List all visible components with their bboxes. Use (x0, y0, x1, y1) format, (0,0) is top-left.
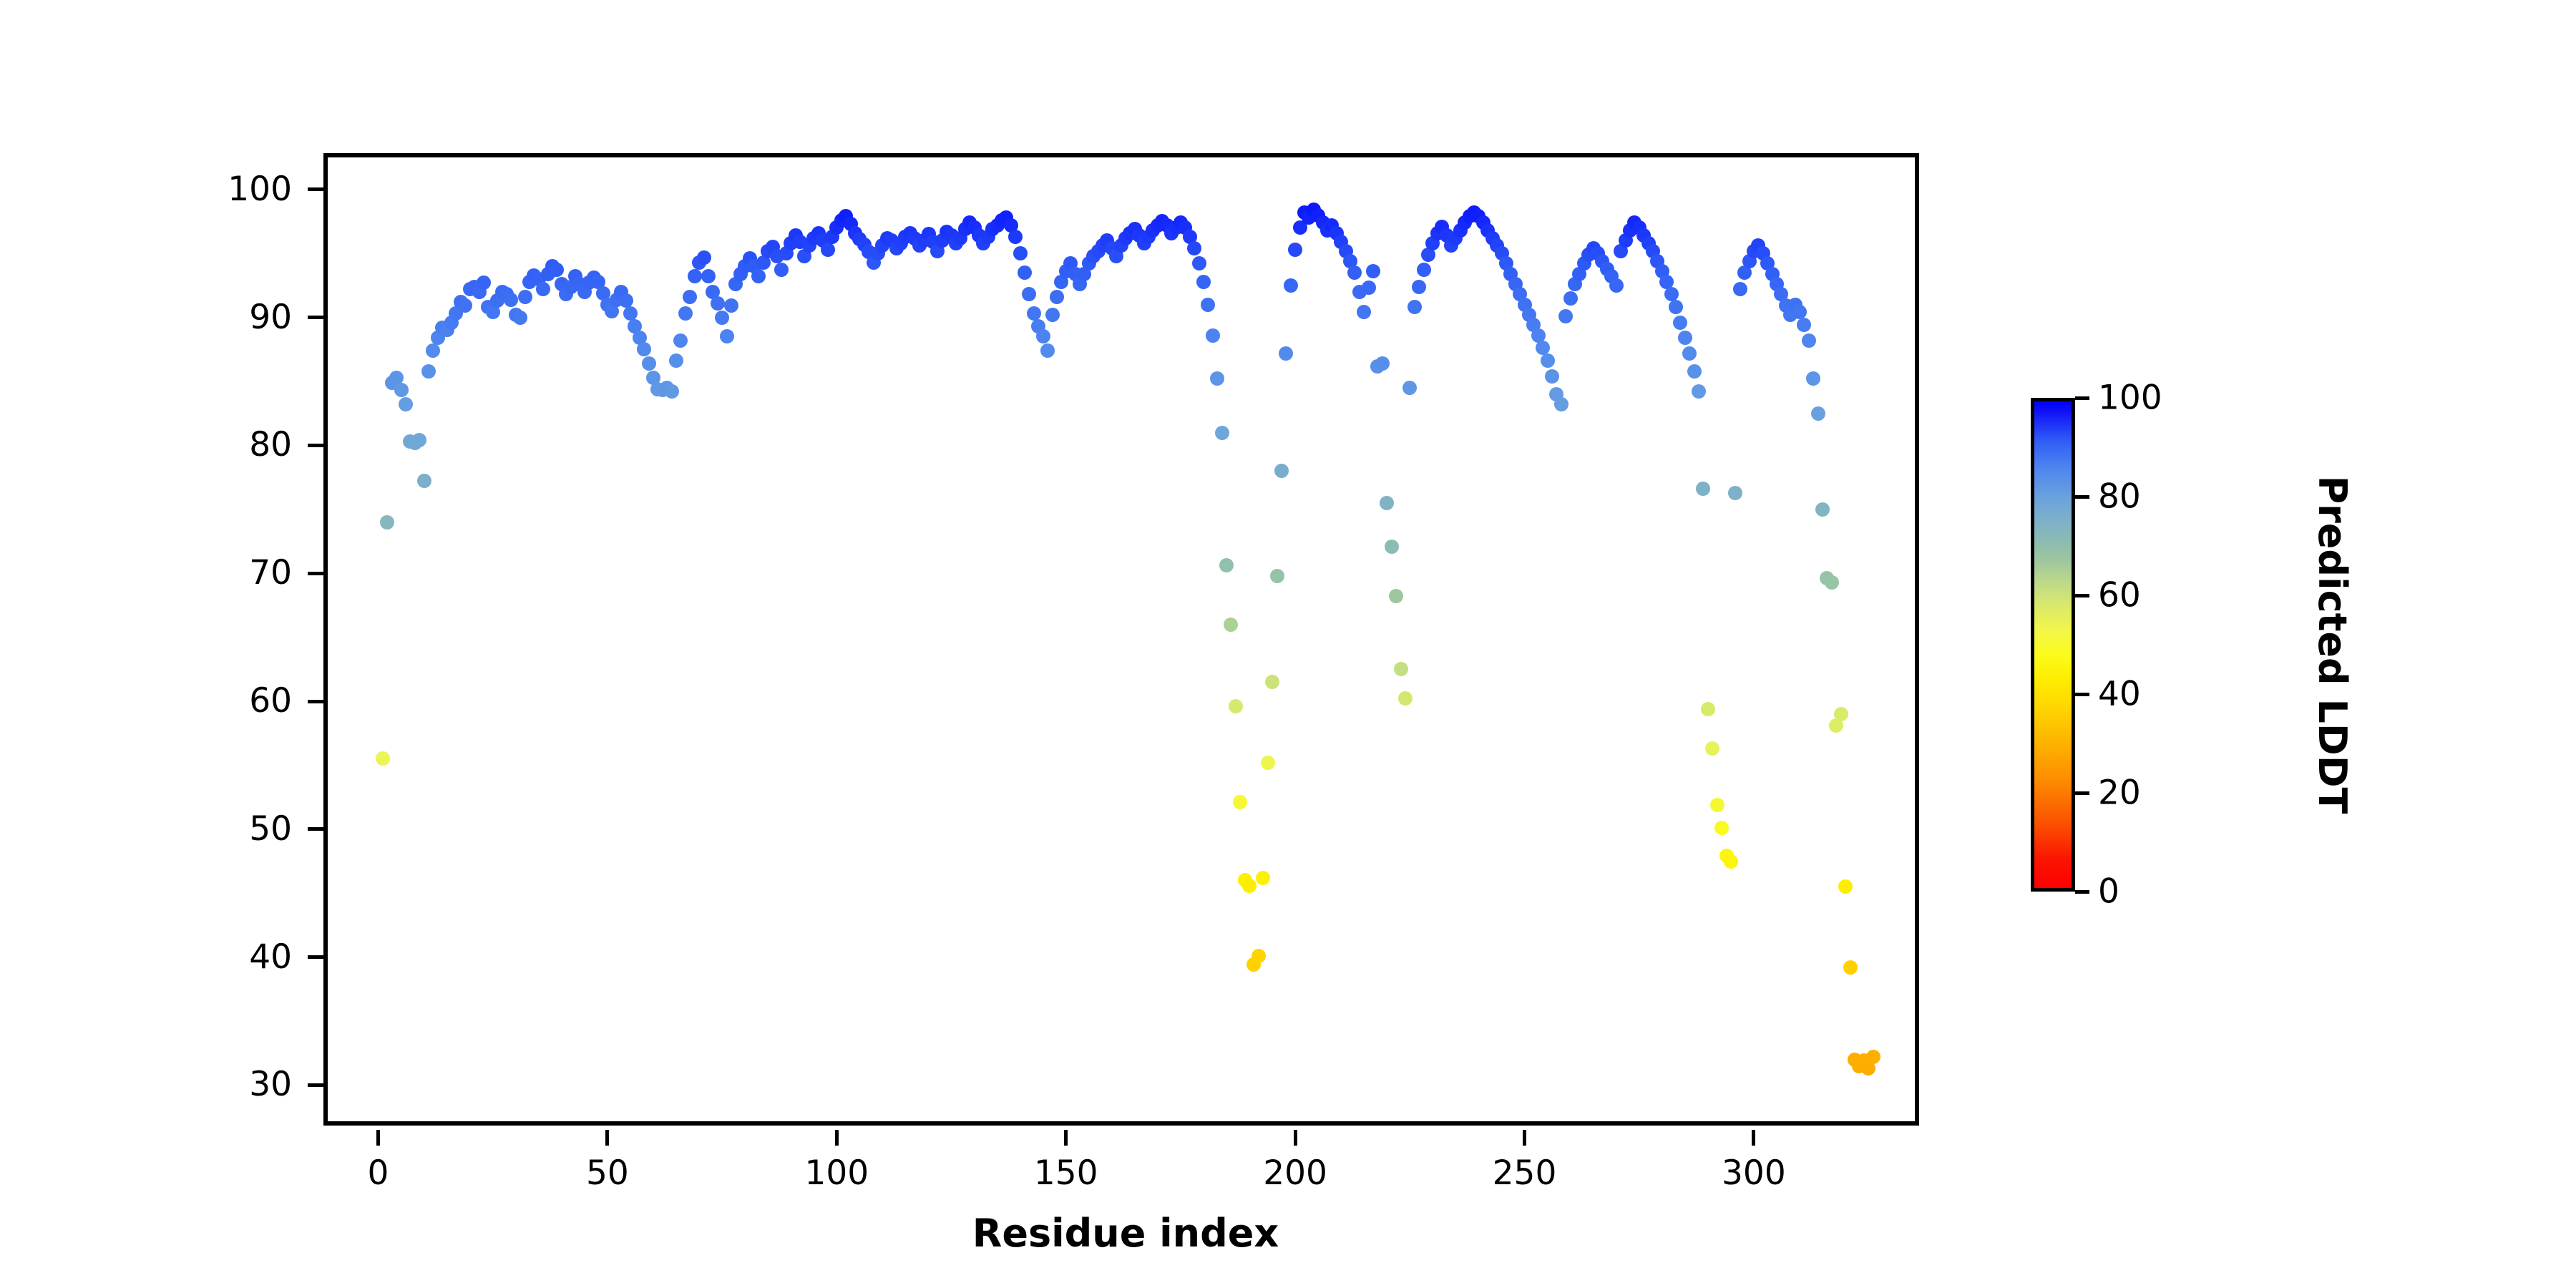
data-point (1811, 406, 1825, 421)
data-point (1357, 305, 1371, 319)
data-point (1402, 381, 1417, 395)
x-tick-label: 50 (586, 1156, 629, 1190)
x-tick-label: 150 (1034, 1156, 1098, 1190)
data-point (1825, 575, 1839, 590)
data-point (1407, 300, 1422, 314)
data-point (1050, 290, 1064, 304)
y-tick-mark (308, 187, 323, 191)
data-point (1022, 287, 1036, 301)
data-point (1678, 331, 1692, 345)
data-point (1206, 328, 1220, 343)
data-point (1389, 589, 1403, 603)
data-point (1673, 316, 1687, 330)
y-tick-mark (308, 316, 323, 319)
x-tick-mark (605, 1130, 609, 1146)
colorbar-tick-label: 20 (2098, 776, 2141, 810)
data-point (1701, 702, 1715, 716)
x-axis-label: Residue index (328, 1211, 1923, 1256)
data-point (821, 243, 835, 257)
x-tick-mark (1523, 1130, 1526, 1146)
y-tick-label: 50 (163, 812, 292, 846)
y-tick-mark (308, 1083, 323, 1087)
data-point (1380, 496, 1394, 510)
data-point (1242, 879, 1257, 893)
data-point (1187, 241, 1201, 255)
data-point (720, 329, 734, 343)
data-point (1284, 278, 1298, 293)
data-point (1558, 309, 1573, 323)
data-point (1417, 263, 1431, 277)
y-tick-label: 70 (163, 556, 292, 590)
data-point (412, 433, 426, 447)
x-tick-mark (835, 1130, 839, 1146)
y-tick-label: 90 (163, 301, 292, 334)
data-point (1215, 426, 1229, 440)
data-point (669, 353, 683, 368)
data-point (673, 333, 688, 348)
data-point (536, 282, 550, 296)
data-point (1362, 280, 1376, 295)
data-point (1724, 854, 1738, 869)
data-point (504, 293, 518, 307)
data-point (1201, 298, 1215, 312)
data-point (1375, 356, 1390, 371)
data-point (426, 343, 440, 358)
data-point (477, 275, 491, 290)
data-point (1563, 291, 1578, 306)
data-point (1385, 540, 1399, 554)
data-point (1682, 346, 1697, 361)
colorbar-tick-mark (2075, 890, 2089, 894)
data-point (1714, 821, 1729, 835)
data-point (1802, 333, 1816, 348)
data-point (715, 311, 729, 325)
y-tick-label: 30 (163, 1068, 292, 1101)
data-point (1398, 691, 1413, 706)
y-tick-mark (308, 827, 323, 831)
data-point (1013, 246, 1028, 260)
data-point (683, 290, 697, 304)
figure-canvas: Predicted LDDT 30405060708090100 0501001… (0, 0, 2576, 1288)
colorbar-tick-label: 40 (2098, 678, 2141, 711)
colorbar-tick-mark (2075, 396, 2089, 400)
data-point (1229, 699, 1243, 713)
data-point (1210, 371, 1224, 386)
data-point (1196, 275, 1211, 289)
data-point (376, 751, 390, 766)
x-tick-label: 0 (368, 1156, 389, 1190)
data-point (550, 263, 564, 277)
data-point (1040, 343, 1055, 358)
data-point (1366, 264, 1380, 278)
data-point (1252, 949, 1266, 963)
data-point (513, 311, 527, 325)
data-point (1270, 569, 1284, 583)
x-tick-mark (1752, 1130, 1755, 1146)
data-point (417, 474, 431, 488)
colorbar: 020406080100 (2031, 398, 2075, 892)
data-point (1347, 265, 1362, 280)
data-point (1866, 1050, 1880, 1064)
y-tick-mark (308, 955, 323, 959)
y-tick-label: 40 (163, 940, 292, 974)
data-point (1256, 871, 1270, 885)
data-point (688, 269, 702, 283)
x-tick-label: 200 (1263, 1156, 1327, 1190)
data-point (394, 383, 409, 397)
data-point (1815, 502, 1830, 517)
colorbar-tick-mark (2075, 495, 2089, 499)
data-point (711, 296, 725, 311)
data-point (1728, 486, 1742, 500)
data-point (724, 298, 738, 313)
data-point (1274, 464, 1289, 478)
data-point (642, 356, 656, 371)
colorbar-tick-label: 100 (2098, 381, 2162, 415)
data-point (701, 269, 716, 283)
data-point (1669, 300, 1683, 314)
data-point (380, 515, 394, 530)
y-tick-label: 80 (163, 428, 292, 462)
x-tick-mark (1064, 1130, 1068, 1146)
data-point (1692, 384, 1706, 399)
colorbar-label: Predicted LDDT (2310, 398, 2354, 892)
x-tick-label: 250 (1493, 1156, 1557, 1190)
data-point (1018, 265, 1032, 280)
data-point (1541, 353, 1555, 368)
data-point (1036, 329, 1050, 343)
y-tick-mark (308, 572, 323, 575)
data-point (1733, 282, 1747, 296)
data-point (774, 263, 789, 277)
colorbar-tick-mark (2075, 594, 2089, 597)
plot-axes: 30405060708090100 050100150200250300 Res… (323, 153, 1919, 1126)
data-point (1687, 364, 1702, 379)
data-point (637, 342, 651, 356)
y-tick-mark (308, 444, 323, 447)
data-point (1224, 618, 1238, 632)
colorbar-tick-label: 60 (2098, 579, 2141, 613)
data-point (1192, 256, 1206, 270)
data-point (1843, 960, 1858, 975)
data-point (1545, 369, 1559, 384)
data-point (1265, 675, 1279, 689)
data-point (1806, 371, 1820, 386)
data-point (1710, 798, 1724, 812)
data-point (1797, 318, 1811, 332)
y-tick-mark (308, 700, 323, 703)
data-point (1233, 795, 1247, 809)
data-point (1705, 741, 1719, 756)
data-point (421, 364, 436, 379)
data-point (1219, 558, 1234, 572)
data-point (518, 290, 532, 304)
colorbar-tick-label: 80 (2098, 480, 2141, 514)
colorbar-tick-mark (2075, 693, 2089, 696)
x-tick-label: 300 (1722, 1156, 1786, 1190)
x-tick-mark (1294, 1130, 1297, 1146)
data-point (1554, 397, 1568, 411)
data-point (1008, 230, 1023, 244)
data-point (1834, 707, 1848, 721)
data-point (1261, 756, 1275, 770)
x-tick-mark (376, 1130, 380, 1146)
data-point (1394, 662, 1408, 676)
data-point (458, 298, 472, 313)
data-point (1045, 308, 1060, 322)
colorbar-tick-mark (2075, 791, 2089, 795)
data-point (697, 250, 711, 265)
data-point (1696, 482, 1710, 496)
data-point (1609, 278, 1624, 293)
data-point (751, 269, 766, 283)
data-point (1412, 280, 1426, 294)
colorbar-tick-label: 0 (2098, 875, 2119, 909)
x-tick-label: 100 (804, 1156, 869, 1190)
y-tick-label: 60 (163, 684, 292, 718)
colorbar-ticks: 020406080100 (2031, 398, 2075, 892)
data-point (1838, 879, 1853, 894)
data-point (665, 384, 679, 399)
data-point (678, 306, 693, 321)
data-point (399, 397, 413, 411)
data-point (1288, 243, 1302, 257)
data-point (1279, 346, 1293, 361)
y-tick-label: 100 (163, 172, 292, 206)
scatter-plot-area (328, 157, 1915, 1121)
